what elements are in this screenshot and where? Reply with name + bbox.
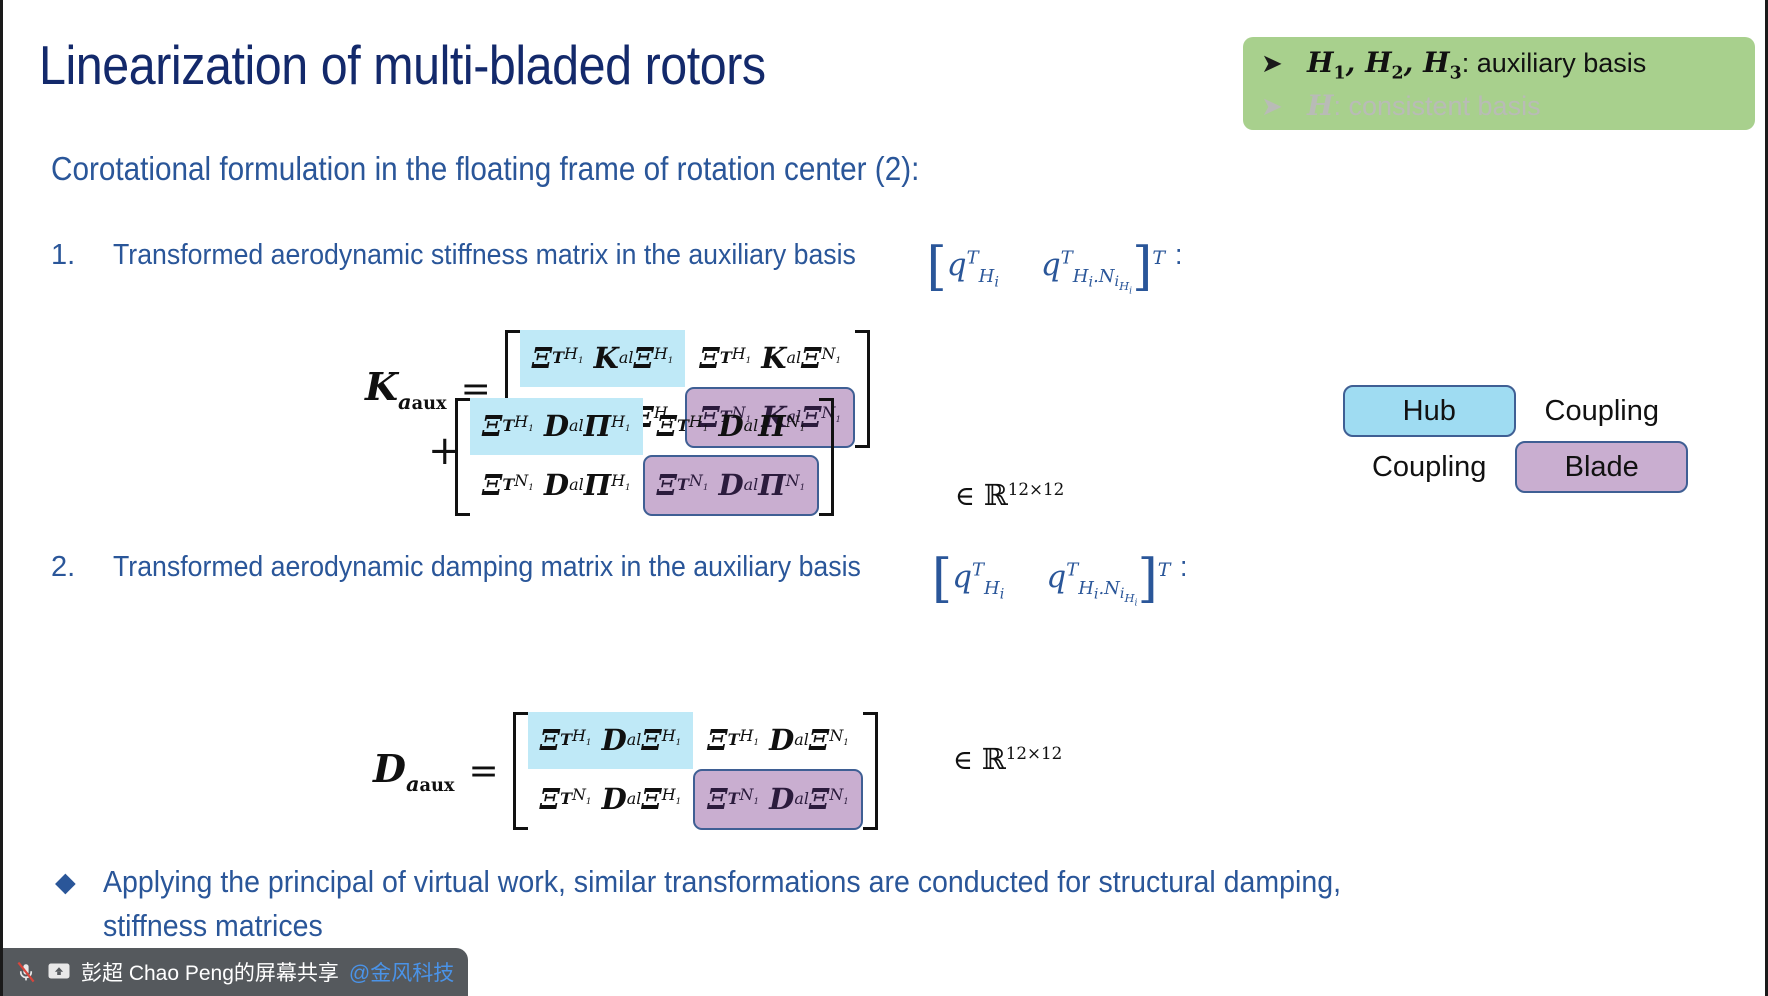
arrow-bullet-icon: ➤ [1261, 46, 1307, 80]
q-term-1: qTHi [952, 559, 1004, 595]
callout-text-auxiliary: H1, H2, H3: auxiliary basis [1307, 46, 1646, 91]
matrix-cell-r1c2: ΞTH1 DalΞN1 [693, 712, 863, 769]
equation-d-aux: Daaux = ΞTH1 DalΞH1 ΞTH1 DalΞN1 ΞTN1 Dal… [373, 712, 878, 830]
matrix-grid: ΞTH1 DalΠH1 ΞTH1 DalΠN1 ΞTN1 DalΠH1 ΞTN1… [470, 398, 819, 516]
matrix-cell-r1c1: ΞTH1 KalΞH1 [520, 330, 686, 387]
item-number-1: 1. [51, 235, 113, 275]
matrix-grid: ΞTH1 DalΞH1 ΞTH1 DalΞN1 ΞTN1 DalΞH1 ΞTN1… [528, 712, 863, 830]
matrix-cell-r1c1: ΞTH1 DalΞH1 [528, 712, 694, 769]
equation-d-lhs: Daaux [373, 746, 469, 796]
diamond-bullet-icon: ◆ [55, 860, 103, 904]
legend-row-top: Hub Coupling [1343, 385, 1688, 437]
matrix-cell-r2c2: ΞTN1 DalΞN1 [693, 769, 863, 830]
item-colon-1: : [1175, 235, 1182, 275]
equals-sign: = [469, 751, 513, 792]
numbered-item-1: 1. Transformed aerodynamic stiffness mat… [51, 235, 1183, 309]
bracket-open-icon: [ [926, 237, 946, 297]
share-organization: @金风科技 [349, 957, 454, 987]
matrix-cell-r2c1: ΞTN1 DalΞH1 [528, 769, 694, 830]
callout-symbols-auxiliary: H1, H2, H3 [1307, 46, 1462, 79]
slide-canvas: Linearization of multi-bladed rotors ➤ H… [0, 0, 1768, 996]
callout-text-consistent: H: consistent basis [1307, 89, 1541, 123]
callout-row-consistent: ➤ H: consistent basis [1243, 89, 1755, 132]
matrix-bracket-right [819, 398, 834, 516]
membership-annotation-d: ∈ ℝ12×12 [953, 742, 1062, 776]
matrix-bracket-right [863, 712, 878, 830]
item-text-2: Transformed aerodynamic damping matrix i… [113, 547, 861, 587]
bracket-close-icon: ] [1138, 549, 1158, 609]
matrix-cell-r2c2: ΞTN1 DalΠN1 [643, 455, 820, 516]
screen-share-icon[interactable] [47, 961, 71, 983]
matrix-block-legend: Hub Coupling Coupling Blade [1343, 385, 1688, 493]
matrix-k-block-2: ΞTH1 DalΠH1 ΞTH1 DalΠN1 ΞTN1 DalΠH1 ΞTN1… [455, 398, 834, 516]
callout-label-auxiliary: : auxiliary basis [1462, 48, 1647, 78]
matrix-cell-r2c1: ΞTN1 DalΠH1 [470, 455, 643, 516]
numbered-item-2: 2. Transformed aerodynamic damping matri… [51, 547, 1189, 621]
matrix-cell-r1c2: ΞTH1 DalΠN1 [643, 398, 820, 455]
share-presenter-name: 彭超 Chao Peng的屏幕共享 [81, 957, 339, 987]
callout-label-consistent: : consistent basis [1333, 91, 1540, 121]
bracket-transpose-exponent: T [1158, 559, 1171, 581]
legend-hub-box: Hub [1343, 385, 1516, 437]
inline-math-basis-2: [qTHiqTHi.NiHi]T [932, 550, 1171, 624]
equation-k-lhs: Kaaux [365, 364, 461, 414]
membership-annotation-k: ∈ ℝ12×12 [955, 478, 1064, 512]
section-subtitle: Corotational formulation in the floating… [51, 148, 919, 190]
bracket-transpose-exponent: T [1152, 247, 1165, 269]
callout-symbols-consistent: H [1307, 89, 1333, 122]
dimension-exponent: 12×12 [1008, 479, 1065, 499]
legend-coupling-top: Coupling [1516, 385, 1688, 437]
matrix-d-block: ΞTH1 DalΞH1 ΞTH1 DalΞN1 ΞTN1 DalΞH1 ΞTN1… [513, 712, 878, 830]
real-space-symbol: ℝ [982, 742, 1006, 776]
membership-symbol: ∈ [955, 481, 975, 512]
membership-symbol: ∈ [953, 745, 973, 776]
screen-share-banner: 彭超 Chao Peng的屏幕共享 @金风科技 [3, 948, 468, 996]
callout-row-auxiliary: ➤ H1, H2, H3: auxiliary basis [1243, 46, 1755, 89]
summary-bullet-text: Applying the principal of virtual work, … [103, 860, 1439, 948]
matrix-cell-r1c2: ΞTH1 KalΞN1 [685, 330, 855, 387]
inline-math-basis-1: [qTHiqTHi.NiHi]T [926, 238, 1165, 312]
item-number-2: 2. [51, 547, 113, 587]
q-term-1: qTHi [947, 247, 999, 283]
legend-blade-box: Blade [1515, 441, 1688, 493]
page-title: Linearization of multi-bladed rotors [39, 34, 766, 96]
q-term-2: qTHi.NiHi [1041, 247, 1132, 283]
matrix-bracket-left [513, 712, 528, 830]
dimension-exponent: 12×12 [1006, 743, 1063, 763]
item-colon-2: : [1180, 547, 1187, 587]
arrow-bullet-icon: ➤ [1261, 89, 1307, 123]
summary-bullet: ◆ Applying the principal of virtual work… [55, 860, 1555, 948]
legend-coupling-bottom: Coupling [1343, 441, 1515, 493]
auxiliary-basis-callout: ➤ H1, H2, H3: auxiliary basis ➤ H: consi… [1243, 37, 1755, 130]
matrix-bracket-left [455, 398, 470, 516]
equation-k-aux-block2: ΞTH1 DalΠH1 ΞTH1 DalΠN1 ΞTN1 DalΠH1 ΞTN1… [455, 398, 834, 516]
real-space-symbol: ℝ [984, 478, 1008, 512]
microphone-muted-icon[interactable] [15, 960, 37, 984]
item-text-1: Transformed aerodynamic stiffness matrix… [113, 235, 856, 275]
matrix-cell-r1c1: ΞTH1 DalΠH1 [470, 398, 643, 455]
bracket-open-icon: [ [932, 549, 952, 609]
bracket-close-icon: ] [1132, 237, 1152, 297]
q-term-2: qTHi.NiHi [1046, 559, 1137, 595]
legend-row-bottom: Coupling Blade [1343, 441, 1688, 493]
matrix-bracket-right [855, 330, 870, 448]
